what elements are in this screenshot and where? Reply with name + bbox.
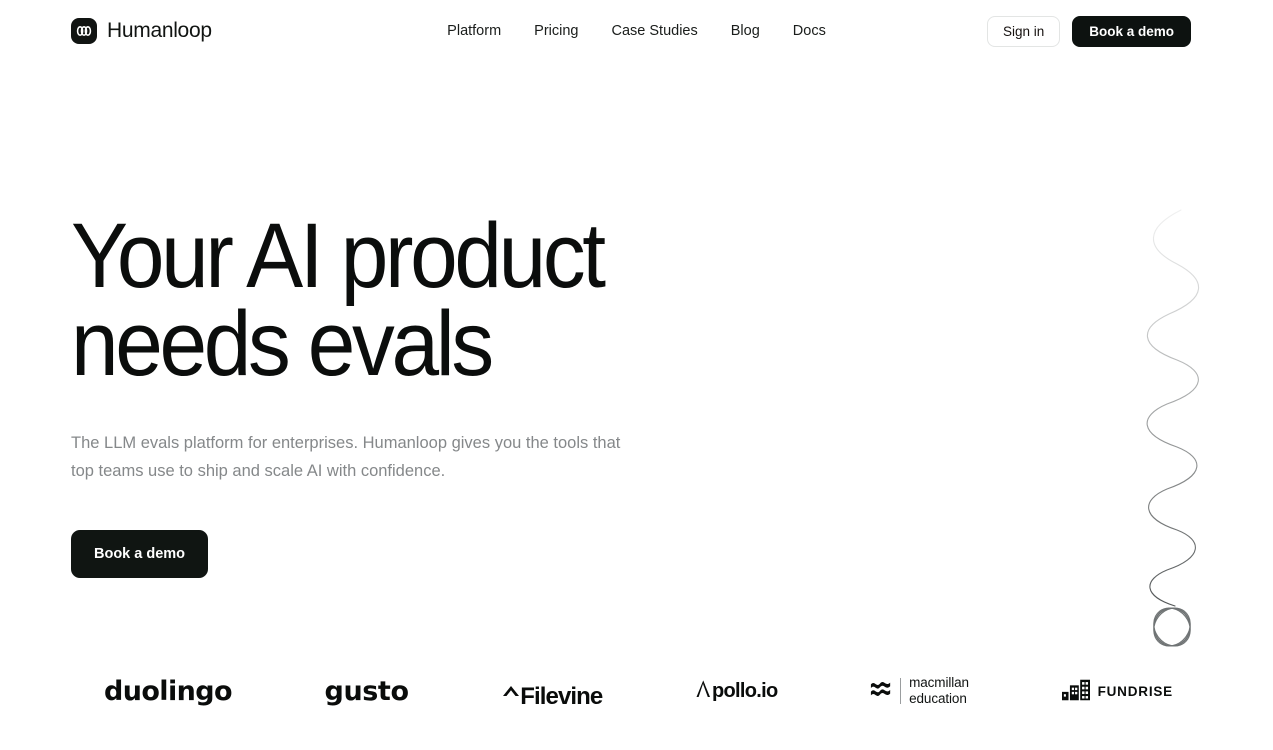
macmillan-divider xyxy=(900,678,901,704)
brand-name: Humanloop xyxy=(107,19,212,43)
chevron-up-icon xyxy=(501,677,521,705)
hero-section: Your AI product needs evals The LLM eval… xyxy=(0,62,1273,622)
book-demo-button-header[interactable]: Book a demo xyxy=(1072,16,1191,47)
triangle-a-icon xyxy=(695,678,712,704)
brand-logo[interactable]: Humanloop xyxy=(71,15,212,47)
logo-duolingo: duolingo xyxy=(104,671,232,711)
site-header: Humanloop Platform Pricing Case Studies … xyxy=(0,0,1273,62)
humanloop-logo-icon xyxy=(71,18,97,44)
sign-in-button[interactable]: Sign in xyxy=(987,16,1060,47)
nav-item-case-studies[interactable]: Case Studies xyxy=(612,23,698,39)
logo-macmillan-text: macmillan education xyxy=(909,675,969,707)
hero-subhead: The LLM evals platform for enterprises. … xyxy=(71,429,637,486)
logo-gusto: gusto xyxy=(325,671,409,711)
logo-macmillan-line1: macmillan xyxy=(909,675,969,691)
buildings-icon xyxy=(1062,679,1090,704)
spring-coil-graphic xyxy=(1137,202,1207,652)
logo-apollo-io: pollo.io xyxy=(695,671,778,711)
logo-filevine-label: Filevine xyxy=(520,683,602,711)
nav-item-pricing[interactable]: Pricing xyxy=(534,23,578,39)
landing-page: Humanloop Platform Pricing Case Studies … xyxy=(0,0,1273,750)
waves-icon xyxy=(870,678,892,705)
customer-logo-strip: duolingo gusto Filevine pollo.io xyxy=(0,655,1273,727)
logo-fundrise: FUNDRISE xyxy=(1062,671,1173,711)
logo-macmillan-education: macmillan education xyxy=(870,671,969,711)
logo-filevine: Filevine xyxy=(501,671,602,711)
logo-apollo-label: pollo.io xyxy=(712,680,778,703)
nav-item-platform[interactable]: Platform xyxy=(447,23,501,39)
logo-macmillan-line2: education xyxy=(909,691,969,707)
page-title: Your AI product needs evals xyxy=(71,212,666,389)
nav-item-blog[interactable]: Blog xyxy=(731,23,760,39)
book-demo-button-hero[interactable]: Book a demo xyxy=(71,530,208,578)
header-actions: Sign in Book a demo xyxy=(987,0,1191,62)
nav-item-docs[interactable]: Docs xyxy=(793,23,826,39)
logo-fundrise-label: FUNDRISE xyxy=(1098,684,1173,699)
hero-content: Your AI product needs evals The LLM eval… xyxy=(71,212,711,578)
